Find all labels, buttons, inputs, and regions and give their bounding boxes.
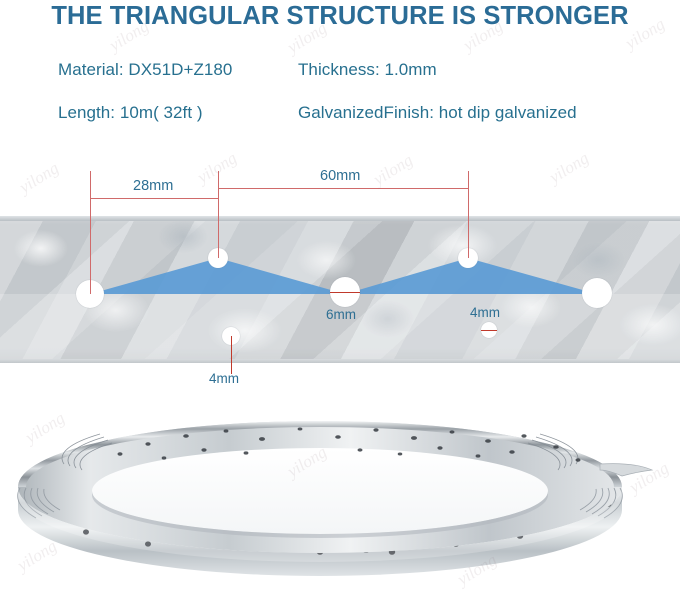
dim-label-28mm: 28mm [133, 178, 173, 194]
spec-thickness: Thickness: 1.0mm [298, 60, 437, 80]
dim-tick-28-left [90, 171, 91, 294]
spec-length: Length: 10m( 32ft ) [58, 103, 203, 123]
dim-tick-28-right [218, 171, 219, 258]
hole-label-6mm: 6mm [326, 307, 356, 322]
product-infographic: THE TRIANGULAR STRUCTURE IS STRONGER Mat… [0, 0, 680, 593]
dim-label-60mm: 60mm [320, 168, 360, 184]
hole-label-lower-4mm: 4mm [209, 371, 239, 386]
dim-tick-60-right [468, 171, 469, 258]
hole-small-diameter-line [481, 330, 497, 331]
hole-label-4mm-right: 4mm [470, 305, 500, 320]
coil-illustration [0, 392, 680, 593]
spec-galvanized-finish: GalvanizedFinish: hot dip galvanized [298, 103, 577, 123]
product-photo-coil [0, 392, 680, 593]
page-title: THE TRIANGULAR STRUCTURE IS STRONGER [0, 2, 680, 31]
triangle-overlay [0, 150, 680, 390]
hole-right-large [582, 278, 612, 308]
spec-material: Material: DX51D+Z180 [58, 60, 232, 80]
dim-line-60mm [218, 188, 468, 189]
leader-line-lower-4mm [231, 336, 232, 374]
hole-center-diameter-line [330, 292, 360, 293]
dim-line-28mm [90, 198, 218, 199]
